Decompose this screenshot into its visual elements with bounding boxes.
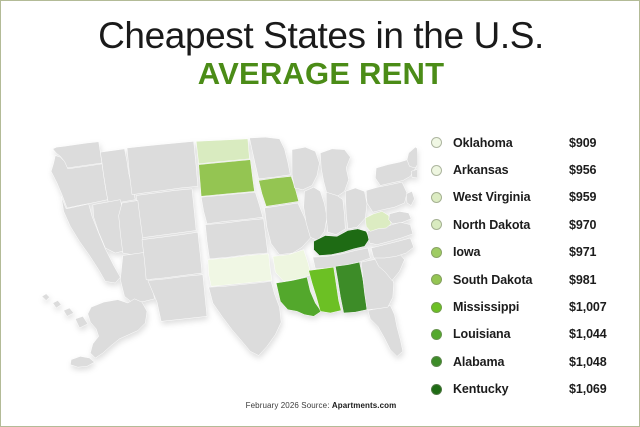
legend-color-dot xyxy=(431,356,442,367)
state-oklahoma xyxy=(208,254,272,286)
list-item[interactable]: Alabama $1,048 xyxy=(431,348,631,375)
state-new-mexico xyxy=(148,275,207,322)
legend-state-price: $1,044 xyxy=(569,327,631,341)
legend-state-price: $1,069 xyxy=(569,382,631,396)
list-item[interactable]: Louisiana $1,044 xyxy=(431,321,631,348)
page-title: Cheapest States in the U.S. xyxy=(1,15,640,57)
legend-state-price: $909 xyxy=(569,136,631,150)
state-colorado xyxy=(142,232,202,280)
legend-state-price: $1,007 xyxy=(569,300,631,314)
state-florida xyxy=(368,306,403,357)
state-alaska-aleutians xyxy=(70,356,94,367)
state-south-dakota xyxy=(199,160,255,197)
footer-date: February 2026 Source: xyxy=(246,401,332,410)
state-minnesota xyxy=(250,137,291,179)
state-ohio xyxy=(345,188,367,229)
us-choropleth-map xyxy=(17,117,417,389)
legend-color-dot xyxy=(431,192,442,203)
state-kansas xyxy=(205,219,267,259)
state-hawaii-4 xyxy=(75,316,88,328)
state-montana xyxy=(127,141,198,194)
legend-state-name: Oklahoma xyxy=(453,136,569,150)
state-new-jersey xyxy=(406,191,414,205)
legend-state-price: $1,048 xyxy=(569,355,631,369)
list-item[interactable]: Oklahoma $909 xyxy=(431,129,631,156)
legend-color-dot xyxy=(431,384,442,395)
us-map-svg xyxy=(17,117,417,389)
state-north-dakota xyxy=(196,139,249,164)
page-subtitle: AVERAGE RENT xyxy=(1,57,640,91)
legend-color-dot xyxy=(431,219,442,230)
legend-state-price: $971 xyxy=(569,245,631,259)
legend-state-name: West Virginia xyxy=(453,190,569,204)
legend-list: Oklahoma $909 Arkansas $956 West Virgini… xyxy=(431,129,631,403)
list-item[interactable]: Arkansas $956 xyxy=(431,156,631,183)
header: Cheapest States in the U.S. AVERAGE RENT xyxy=(1,15,640,91)
list-item[interactable]: Kentucky $1,069 xyxy=(431,376,631,403)
state-hawaii-3 xyxy=(64,308,74,316)
state-wisconsin xyxy=(292,147,320,189)
state-michigan xyxy=(320,149,350,197)
legend-state-name: South Dakota xyxy=(453,273,569,287)
legend-state-name: Mississippi xyxy=(453,300,569,314)
list-item[interactable]: South Dakota $981 xyxy=(431,266,631,293)
footer-attribution: February 2026 Source: Apartments.com xyxy=(1,401,640,410)
legend-color-dot xyxy=(431,165,442,176)
list-item[interactable]: Mississippi $1,007 xyxy=(431,293,631,320)
legend-state-price: $970 xyxy=(569,218,631,232)
state-iowa xyxy=(259,176,299,206)
legend-color-dot xyxy=(431,302,442,313)
legend-color-dot xyxy=(431,137,442,148)
legend-state-price: $956 xyxy=(569,163,631,177)
state-maryland xyxy=(389,211,412,224)
state-hawaii-2 xyxy=(53,301,61,309)
infographic-canvas: Cheapest States in the U.S. AVERAGE RENT xyxy=(0,0,640,427)
legend-state-name: Kentucky xyxy=(453,382,569,396)
state-arkansas xyxy=(273,250,311,282)
legend-state-price: $981 xyxy=(569,273,631,287)
map-states-group xyxy=(42,137,417,367)
state-wyoming xyxy=(136,189,196,238)
legend-state-name: North Dakota xyxy=(453,218,569,232)
legend-state-price: $959 xyxy=(569,190,631,204)
legend-state-name: Arkansas xyxy=(453,163,569,177)
legend-state-name: Iowa xyxy=(453,245,569,259)
state-texas xyxy=(209,281,281,355)
state-hawaii xyxy=(42,294,50,301)
state-pennsylvania xyxy=(366,182,407,212)
legend-color-dot xyxy=(431,329,442,340)
list-item[interactable]: West Virginia $959 xyxy=(431,184,631,211)
legend-color-dot xyxy=(431,247,442,258)
list-item[interactable]: Iowa $971 xyxy=(431,239,631,266)
footer-source-link[interactable]: Apartments.com xyxy=(332,401,397,410)
legend-state-name: Louisiana xyxy=(453,327,569,341)
state-indiana xyxy=(326,192,345,235)
list-item[interactable]: North Dakota $970 xyxy=(431,211,631,238)
state-nebraska xyxy=(201,192,263,224)
legend-state-name: Alabama xyxy=(453,355,569,369)
legend-color-dot xyxy=(431,274,442,285)
state-alaska xyxy=(88,299,147,358)
